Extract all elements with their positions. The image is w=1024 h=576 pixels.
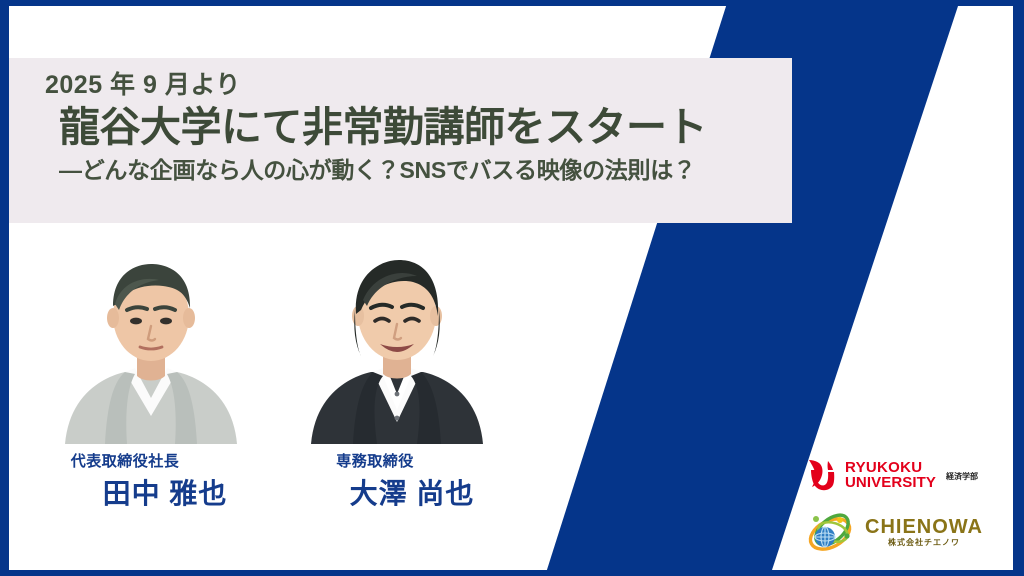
portrait-tanaka-illustration (51, 248, 251, 444)
frame-border-right (1013, 0, 1024, 576)
title-band: 2025 年 9 月より 龍谷大学にて非常勤講師をスタート ―どんな企画なら人の… (9, 58, 792, 223)
frame-border-bottom (0, 570, 1024, 576)
ryukoku-faculty-label: 経済学部 (946, 471, 978, 482)
frame-border-left (0, 0, 9, 576)
ryukoku-line2: UNIVERSITY (845, 476, 936, 491)
speaker-name: 田中 雅也 (59, 472, 271, 512)
speaker-name: 大澤 尚也 (307, 472, 517, 512)
speaker-role: 専務取締役 (233, 450, 517, 471)
logo-group: RYUKOKU UNIVERSITY 経済学部 (806, 458, 986, 554)
chienowa-globe-orbit-icon (806, 510, 858, 554)
speaker-card: 代表取締役社長 田中 雅也 (31, 248, 271, 512)
chienowa-wordmark: CHIENOWA 株式会社チエノワ (865, 517, 983, 547)
avatar (51, 248, 251, 444)
frame-border-top (0, 0, 1024, 6)
ryukoku-logo: RYUKOKU UNIVERSITY 経済学部 (806, 458, 978, 494)
page-title: 龍谷大学にて非常勤講師をスタート (59, 104, 792, 151)
ryukoku-wordmark: RYUKOKU UNIVERSITY (845, 461, 936, 491)
chienowa-name: CHIENOWA (865, 517, 983, 537)
announcement-slide: 2025 年 9 月より 龍谷大学にて非常勤講師をスタート ―どんな企画なら人の… (0, 0, 1024, 576)
speaker-role: 代表取締役社長 (0, 450, 271, 471)
avatar (297, 248, 497, 444)
speaker-card: 専務取締役 大澤 尚也 (277, 248, 517, 512)
title-subline: ―どんな企画なら人の心が動く？SNSでバスる映像の法則は？ (59, 157, 792, 185)
title-kicker: 2025 年 9 月より (45, 72, 792, 100)
ryukoku-mark-icon (806, 458, 838, 494)
portrait-osawa-illustration (297, 248, 497, 444)
chienowa-logo: CHIENOWA 株式会社チエノワ (806, 510, 983, 554)
chienowa-subtitle: 株式会社チエノワ (888, 539, 960, 547)
speaker-list: 代表取締役社長 田中 雅也 (9, 248, 529, 548)
